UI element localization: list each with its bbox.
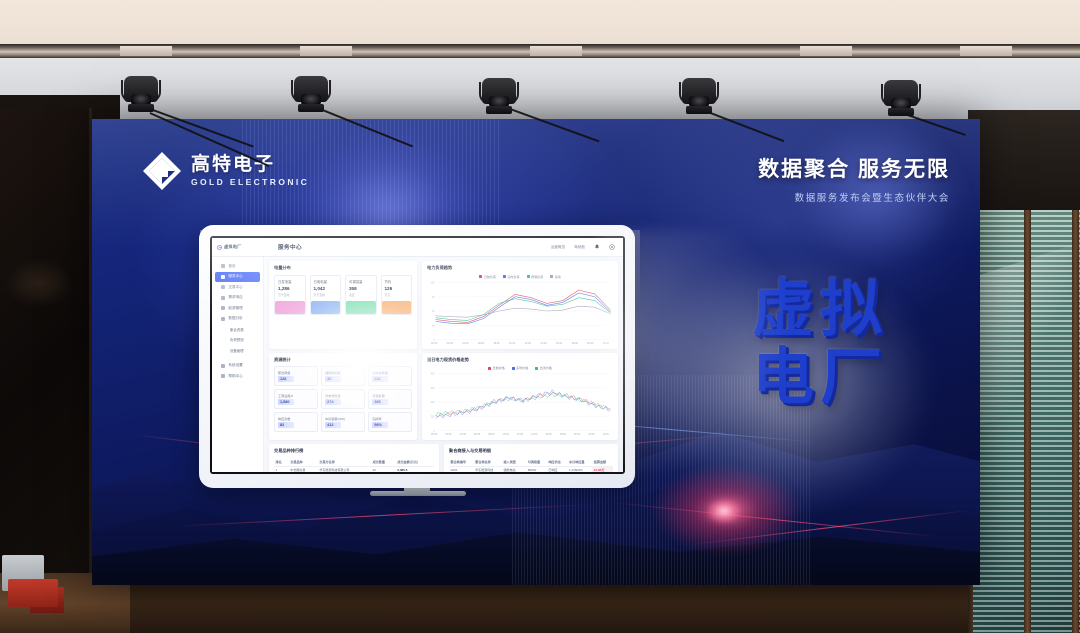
stat-tile-3: 工商业用户1,580: [274, 389, 318, 409]
sidebar-item-label: 能源管理: [228, 306, 242, 311]
feature-title-line2: 电厂: [752, 347, 888, 409]
series-3: [436, 306, 611, 317]
legend-item-0[interactable]: 日前负荷: [479, 275, 496, 279]
bell-icon[interactable]: [594, 244, 600, 250]
stat-tile-6: 响应次数82: [274, 412, 318, 432]
stat-label: 储能电站数: [325, 370, 361, 375]
table-cell: A001: [449, 466, 474, 472]
sidebar-item-label: 系统设置: [228, 363, 242, 368]
xtick-0: 00:00: [431, 342, 437, 345]
xtick-2: 04:00: [462, 342, 468, 345]
sidebar-item-4[interactable]: 能源管理: [215, 303, 260, 314]
legend-item-3[interactable]: 基线: [550, 275, 561, 279]
column-header-2: 接入类型: [502, 458, 526, 467]
kpi-unit: 兆瓦: [349, 293, 373, 297]
table-header-row: 聚合商编号聚合商名称接入类型可调容量响应状态本日响应量结算金额: [449, 458, 613, 467]
stat-tile-1: 储能电站数46: [321, 366, 365, 386]
sidebar-item-6[interactable]: 聚合资源: [215, 324, 260, 335]
stat-label: 分布式光伏: [325, 393, 361, 398]
svg-text:120: 120: [431, 282, 435, 284]
sidebar-item-label: 首页: [228, 264, 235, 269]
table-cell: 储能电站: [502, 466, 526, 472]
sidebar-item-1[interactable]: 服务中心: [215, 272, 260, 283]
kpi-label: 节约: [385, 279, 409, 284]
xtick-7: 14:00: [540, 342, 546, 345]
svg-text:400: 400: [431, 402, 435, 404]
column-header-1: 交易品种: [289, 458, 318, 467]
kpi-panel-title: 电量分布: [274, 265, 412, 271]
series-0: [436, 393, 611, 417]
table-cell: 1,245kWh: [567, 466, 592, 472]
stat-tile-8: 完成率96%: [368, 412, 412, 432]
legend-item-2[interactable]: 出清价格: [535, 366, 552, 370]
legend-label: 预测负荷: [531, 275, 543, 279]
column-header-3: 成交数量: [371, 458, 396, 467]
company-logo: 高特电子 GOLD ELECTRONIC: [142, 151, 309, 191]
sidebar-item-8[interactable]: 设备管理: [215, 345, 260, 356]
column-header-3: 可调容量: [526, 458, 547, 467]
column-header-0: 排名: [274, 458, 289, 467]
feature-title-line1: 虚拟: [752, 279, 888, 341]
dashboard-ui: 虚拟电厂 服务中心 运营概览 驾驶舱: [212, 238, 623, 472]
stats-panel: 资源统计 聚合商数128储能电站数46充电桩数量932工商业用户1,580分布式…: [269, 353, 417, 441]
stat-label: 工商业用户: [278, 393, 314, 398]
sidebar-item-7[interactable]: 负荷预测: [215, 335, 260, 346]
sidebar-item-0[interactable]: 首页: [215, 261, 260, 272]
stat-value: 932: [372, 376, 388, 382]
sidebar-item-label: 聚合资源: [230, 327, 244, 332]
xtick-4: 08:00: [493, 342, 499, 345]
aggregator-table-title: 聚合商接入与交易明细: [449, 448, 613, 454]
aggregator-table: 聚合商编号聚合商名称接入类型可调容量响应状态本日响应量结算金额 A001华东能源…: [449, 458, 613, 473]
table-cell: 2,386.5: [396, 466, 434, 472]
stat-tile-4: 分布式光伏274: [321, 389, 365, 409]
legend-item-1[interactable]: 实时价格: [512, 366, 529, 370]
xtick-7: 14:00: [531, 433, 537, 436]
stat-label: 聚合商数: [278, 370, 314, 375]
event-headline: 数据聚合 服务无限: [758, 153, 950, 183]
page-title: 服务中心: [278, 243, 302, 251]
dark-doorway: [0, 108, 92, 578]
kpi-card-2[interactable]: 可调容量358兆瓦: [345, 275, 377, 315]
kpi-value: 1,042: [314, 286, 338, 291]
xtick-1: 02:00: [445, 433, 451, 436]
table-cell: 华东能源科技: [474, 466, 502, 472]
kpi-unit: 万千瓦时: [314, 293, 338, 297]
series-0: [436, 290, 611, 322]
xtick-1: 02:00: [447, 342, 453, 345]
xtick-8: 16:00: [556, 342, 562, 345]
home-icon: [221, 264, 225, 268]
display-screen: 虚拟电厂 服务中心 运营概览 驾驶舱: [199, 225, 635, 488]
stage-light-1: [120, 76, 162, 116]
table-cell: 1: [274, 466, 289, 472]
event-headline-block: 数据聚合 服务无限 数据服务发布会暨生态伙伴大会: [758, 153, 950, 204]
deal-icon: [221, 285, 225, 289]
svg-text:600: 600: [431, 388, 435, 390]
legend-label: 日前负荷: [484, 275, 496, 279]
kpi-unit: 万元: [385, 293, 409, 297]
sidebar-item-label: 数据分析: [228, 316, 242, 321]
table-row[interactable]: 1中长期交易华东能源科技有限公司422,386.5: [274, 466, 434, 472]
stat-label: 响应次数: [278, 416, 314, 421]
kpi-value: 358: [349, 286, 373, 291]
kpi-label: 可调容量: [349, 279, 373, 284]
brand-name-en: GOLD ELECTRONIC: [191, 177, 309, 187]
kpi-color-bar: [311, 301, 341, 314]
stat-value: 128: [278, 376, 294, 382]
chart2-xaxis: 00:0002:0004:0006:0008:0010:0012:0014:00…: [427, 433, 613, 436]
xtick-9: 18:00: [571, 342, 577, 345]
stat-tile-7: 中标容量(MW)412: [321, 412, 365, 432]
column-header-0: 聚合商编号: [449, 458, 474, 467]
dashboard-logo[interactable]: 虚拟电厂: [212, 244, 264, 250]
legend-swatch: [512, 367, 515, 370]
conference-stage-photo: 高特电子 GOLD ELECTRONIC 数据聚合 服务无限 数据服务发布会暨生…: [0, 0, 1080, 633]
legend-label: 实时价格: [516, 366, 528, 370]
sidebar-item-5[interactable]: 数据分析: [215, 314, 260, 325]
app-logo-text: 虚拟电厂: [224, 244, 242, 250]
column-header-2: 交易方名称: [318, 458, 371, 467]
energy-icon: [221, 306, 225, 310]
kpi-card-1[interactable]: 日用电量1,042万千瓦时: [310, 275, 342, 315]
table-cell: 42: [371, 466, 396, 472]
clock-icon: [221, 364, 225, 368]
svg-text:0: 0: [433, 339, 435, 341]
chart2-plot: 8006004002000: [427, 371, 613, 433]
xtick-3: 06:00: [478, 342, 484, 345]
legend-swatch: [550, 275, 553, 278]
svg-text:200: 200: [431, 417, 435, 419]
xtick-11: 22:00: [588, 433, 594, 436]
stat-value: 412: [325, 422, 341, 428]
legend-label: 基线: [555, 275, 561, 279]
stat-value: 96%: [372, 422, 388, 428]
price-trend-chart-card: 当日电力现货价格走势 日前价格实时价格出清价格 8006004002000 00…: [422, 353, 618, 441]
xtick-11: 22:00: [603, 342, 609, 345]
kpi-label: 日用电量: [314, 279, 338, 284]
chart2-legend: 日前价格实时价格出清价格: [427, 366, 613, 370]
table-cell: 86MW: [526, 466, 547, 472]
legend-swatch: [488, 367, 491, 370]
legend-label: 出清价格: [540, 366, 552, 370]
svg-text:800: 800: [431, 374, 435, 376]
diamond-g-logo-icon: [142, 151, 182, 191]
legend-item-1[interactable]: 实时负荷: [503, 275, 520, 279]
stat-value: 365: [372, 399, 388, 405]
app-logo-icon: [217, 245, 222, 250]
analysis-icon: [221, 317, 225, 321]
legend-item-2[interactable]: 预测负荷: [527, 275, 544, 279]
xtick-6: 12:00: [517, 433, 523, 436]
sidebar-item-2[interactable]: 交易中心: [215, 282, 260, 293]
xtick-12: 23:45: [603, 433, 609, 436]
stage-light-4: [678, 78, 720, 118]
svg-text:30: 30: [432, 325, 435, 327]
ranking-table-title: 交易品种排行榜: [274, 448, 434, 454]
stat-label: 可调负荷: [372, 393, 408, 398]
ranking-table-card: 交易品种排行榜 排名交易品种交易方名称成交数量成交金额(万元) 1中长期交易华东…: [269, 444, 439, 472]
xtick-8: 16:00: [545, 433, 551, 436]
column-header-4: 成交金额(万元): [396, 458, 434, 467]
svg-text:60: 60: [432, 311, 435, 313]
xtick-2: 04:00: [460, 433, 466, 436]
legend-label: 日前价格: [493, 366, 505, 370]
xtick-4: 08:00: [488, 433, 494, 436]
sidebar-item-label: 帮助中心: [228, 374, 242, 379]
legend-swatch: [503, 275, 506, 278]
table-row[interactable]: A001华东能源科技储能电站86MW已响应1,245kWh12.86万: [449, 466, 613, 472]
kpi-color-bar: [275, 301, 305, 314]
help-icon: [221, 374, 225, 378]
table-cell: 中长期交易: [289, 466, 318, 472]
table-cell: 12.86万: [592, 466, 613, 472]
kpi-label: 日发电量: [278, 279, 302, 284]
series-2: [436, 394, 611, 416]
stats-panel-title: 资源统计: [274, 357, 412, 363]
stat-value: 46: [325, 376, 341, 382]
feature-title: 虚拟 电厂: [752, 279, 888, 409]
chart1-title: 电力负荷趋势: [427, 265, 613, 271]
stage-light-5: [880, 80, 922, 120]
legend-item-0[interactable]: 日前价格: [488, 366, 505, 370]
sidebar-item-label: 需求响应: [228, 295, 242, 300]
response-icon: [221, 296, 225, 300]
xtick-0: 00:00: [431, 433, 437, 436]
kpi-value: 1,286: [278, 286, 302, 291]
svg-text:90: 90: [432, 296, 435, 298]
event-subline: 数据服务发布会暨生态伙伴大会: [758, 190, 950, 204]
kpi-color-bar: [346, 301, 376, 314]
ceiling-air-vent: [0, 44, 1080, 58]
legend-swatch: [535, 367, 538, 370]
stat-value: 82: [278, 422, 294, 428]
legend-swatch: [527, 275, 530, 278]
kpi-panel: 电量分布 日发电量1,286万千瓦时日用电量1,042万千瓦时可调容量358兆瓦…: [269, 261, 417, 349]
column-header-1: 聚合商名称: [474, 458, 502, 467]
load-trend-chart-card: 电力负荷趋势 日前负荷实时负荷预测负荷基线 1209060300 00:0002…: [422, 261, 618, 349]
sidebar-item-label: 设备管理: [230, 348, 244, 353]
stat-tile-0: 聚合商数128: [274, 366, 318, 386]
column-header-4: 响应状态: [547, 458, 568, 467]
stat-label: 中标容量(MW): [325, 416, 361, 421]
column-header-6: 结算金额: [592, 458, 613, 467]
floor: [0, 581, 1080, 633]
kpi-card-0[interactable]: 日发电量1,286万千瓦时: [274, 275, 306, 315]
kpi-card-3[interactable]: 节约126万元: [381, 275, 413, 315]
chart1-plot: 1209060300: [427, 280, 613, 342]
sidebar-item-label: 交易中心: [228, 285, 242, 290]
sidebar-item-10[interactable]: 帮助中心: [215, 371, 260, 382]
chart1-legend: 日前负荷实时负荷预测负荷基线: [427, 275, 613, 279]
stat-label: 完成率: [372, 416, 408, 421]
stat-tile-2: 充电桩数量932: [368, 366, 412, 386]
stat-value: 1,580: [278, 399, 294, 405]
gear-icon[interactable]: [609, 244, 615, 250]
legend-label: 实时负荷: [507, 275, 519, 279]
aggregator-table-card: 聚合商接入与交易明细 聚合商编号聚合商名称接入类型可调容量响应状态本日响应量结算…: [444, 444, 618, 472]
sidebar-item-label: 服务中心: [228, 274, 242, 279]
chart2-title: 当日电力现货价格走势: [427, 357, 613, 363]
series-1: [436, 390, 611, 419]
kpi-value: 126: [385, 286, 409, 291]
xtick-5: 10:00: [509, 342, 515, 345]
xtick-3: 06:00: [474, 433, 480, 436]
sidebar-item-label: 负荷预测: [230, 337, 244, 342]
stat-label: 充电桩数量: [372, 370, 408, 375]
stat-tile-5: 可调负荷365: [368, 389, 412, 409]
chart-icon: [221, 275, 225, 279]
xtick-10: 20:00: [587, 342, 593, 345]
stage-light-2: [290, 76, 332, 116]
table-cell: 已响应: [547, 466, 568, 472]
xtick-6: 12:00: [525, 342, 531, 345]
dashboard-header: 虚拟电厂 服务中心 运营概览 驾驶舱: [212, 238, 623, 257]
header-link-1[interactable]: 运营概览: [551, 245, 565, 250]
ranking-table: 排名交易品种交易方名称成交数量成交金额(万元) 1中长期交易华东能源科技有限公司…: [274, 458, 434, 473]
xtick-10: 20:00: [574, 433, 580, 436]
kpi-color-bar: [382, 301, 412, 314]
red-box-prop: [8, 579, 58, 607]
kpi-unit: 万千瓦时: [278, 293, 302, 297]
table-header-row: 排名交易品种交易方名称成交数量成交金额(万元): [274, 458, 434, 467]
svg-text:0: 0: [433, 431, 435, 433]
stat-value: 274: [325, 399, 341, 405]
window-with-blinds: [968, 110, 1080, 633]
sidebar: 首页服务中心交易中心需求响应能源管理数据分析聚合资源负荷预测设备管理系统设置帮助…: [212, 257, 264, 472]
stage-light-3: [478, 78, 520, 118]
chart1-xaxis: 00:0002:0004:0006:0008:0010:0012:0014:00…: [427, 342, 613, 345]
sidebar-item-9[interactable]: 系统设置: [215, 361, 260, 372]
legend-swatch: [479, 275, 482, 278]
xtick-9: 18:00: [560, 433, 566, 436]
dashboard-main: 电量分布 日发电量1,286万千瓦时日用电量1,042万千瓦时可调容量358兆瓦…: [264, 257, 623, 472]
header-link-2[interactable]: 驾驶舱: [574, 245, 585, 250]
column-header-5: 本日响应量: [567, 458, 592, 467]
xtick-5: 10:00: [502, 433, 508, 436]
table-cell: 华东能源科技有限公司: [318, 466, 371, 472]
sidebar-item-3[interactable]: 需求响应: [215, 293, 260, 304]
